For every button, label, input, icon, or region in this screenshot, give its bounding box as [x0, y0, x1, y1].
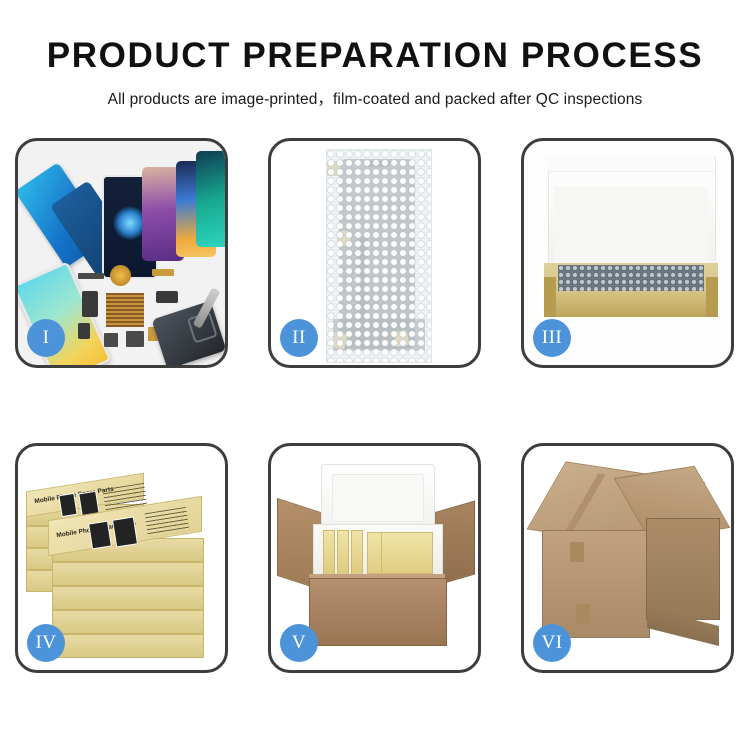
- step-badge-3: III: [533, 319, 571, 357]
- carton-tape-upper: [570, 542, 584, 562]
- kraft-slab-group-2: [381, 532, 433, 574]
- kraft-slab-1: [323, 530, 335, 576]
- carton-tape-lower: [576, 604, 590, 624]
- step-badge-1: I: [27, 319, 65, 357]
- part-connector-grid: [106, 293, 144, 327]
- retail-box-screen-img-1: [58, 493, 77, 517]
- carton-side-face: [646, 518, 720, 620]
- step-badge-5: V: [280, 624, 318, 662]
- step-badge-2: II: [280, 319, 318, 357]
- retail-box-screen-img-4: [112, 516, 138, 547]
- process-step-card-1: I: [15, 138, 228, 368]
- phone-teal: [196, 151, 228, 247]
- retail-box-stack-front-3: [52, 586, 204, 610]
- part-chip-2: [104, 333, 118, 347]
- page-title: PRODUCT PREPARATION PROCESS: [0, 38, 750, 73]
- carton-front-face: [542, 530, 650, 638]
- part-flex-cable-2: [82, 291, 98, 317]
- step-badge-4: IV: [27, 624, 65, 662]
- page-subtitle: All products are image-printed，film-coat…: [0, 87, 750, 109]
- retail-box-stack-front-5: [52, 634, 204, 658]
- kraft-box-right-corner: [706, 277, 718, 317]
- part-coil: [110, 265, 131, 286]
- step-badge-6: VI: [533, 624, 571, 662]
- part-chip-1: [78, 273, 104, 279]
- process-step-card-6: VI: [521, 443, 734, 673]
- kraft-box-front: [544, 291, 718, 317]
- process-step-card-3: III: [521, 138, 734, 368]
- box-lid-tab: [548, 157, 714, 172]
- part-phone-backplate: [151, 301, 226, 368]
- bubble-wrap-bag: [326, 149, 432, 363]
- kraft-slab-2: [337, 530, 349, 576]
- carton-front-wall: [309, 578, 447, 646]
- page-header: PRODUCT PREPARATION PROCESS All products…: [0, 0, 750, 109]
- bubble-wrap-fill: [558, 265, 704, 293]
- retail-box-screen-img-3: [88, 521, 112, 550]
- process-step-card-5: V: [268, 443, 481, 673]
- process-step-card-2: II: [268, 138, 481, 368]
- part-flex-cable-3: [78, 323, 90, 339]
- retail-box-stack-front-4: [52, 610, 204, 634]
- part-chip-3: [126, 331, 144, 347]
- part-gold-flex-1: [152, 269, 174, 276]
- box-inner-panel: [554, 187, 708, 273]
- part-flex-cable-1: [156, 291, 178, 303]
- process-step-card-4: Mobile Phone Spare Parts Mobile Phone Sp…: [15, 443, 228, 673]
- foam-box-lid: [321, 464, 435, 532]
- retail-box-stack-front-2: [52, 562, 204, 586]
- kraft-slab-3: [351, 530, 363, 576]
- kraft-box-left-corner: [544, 277, 556, 317]
- process-step-grid: I II III: [15, 138, 735, 673]
